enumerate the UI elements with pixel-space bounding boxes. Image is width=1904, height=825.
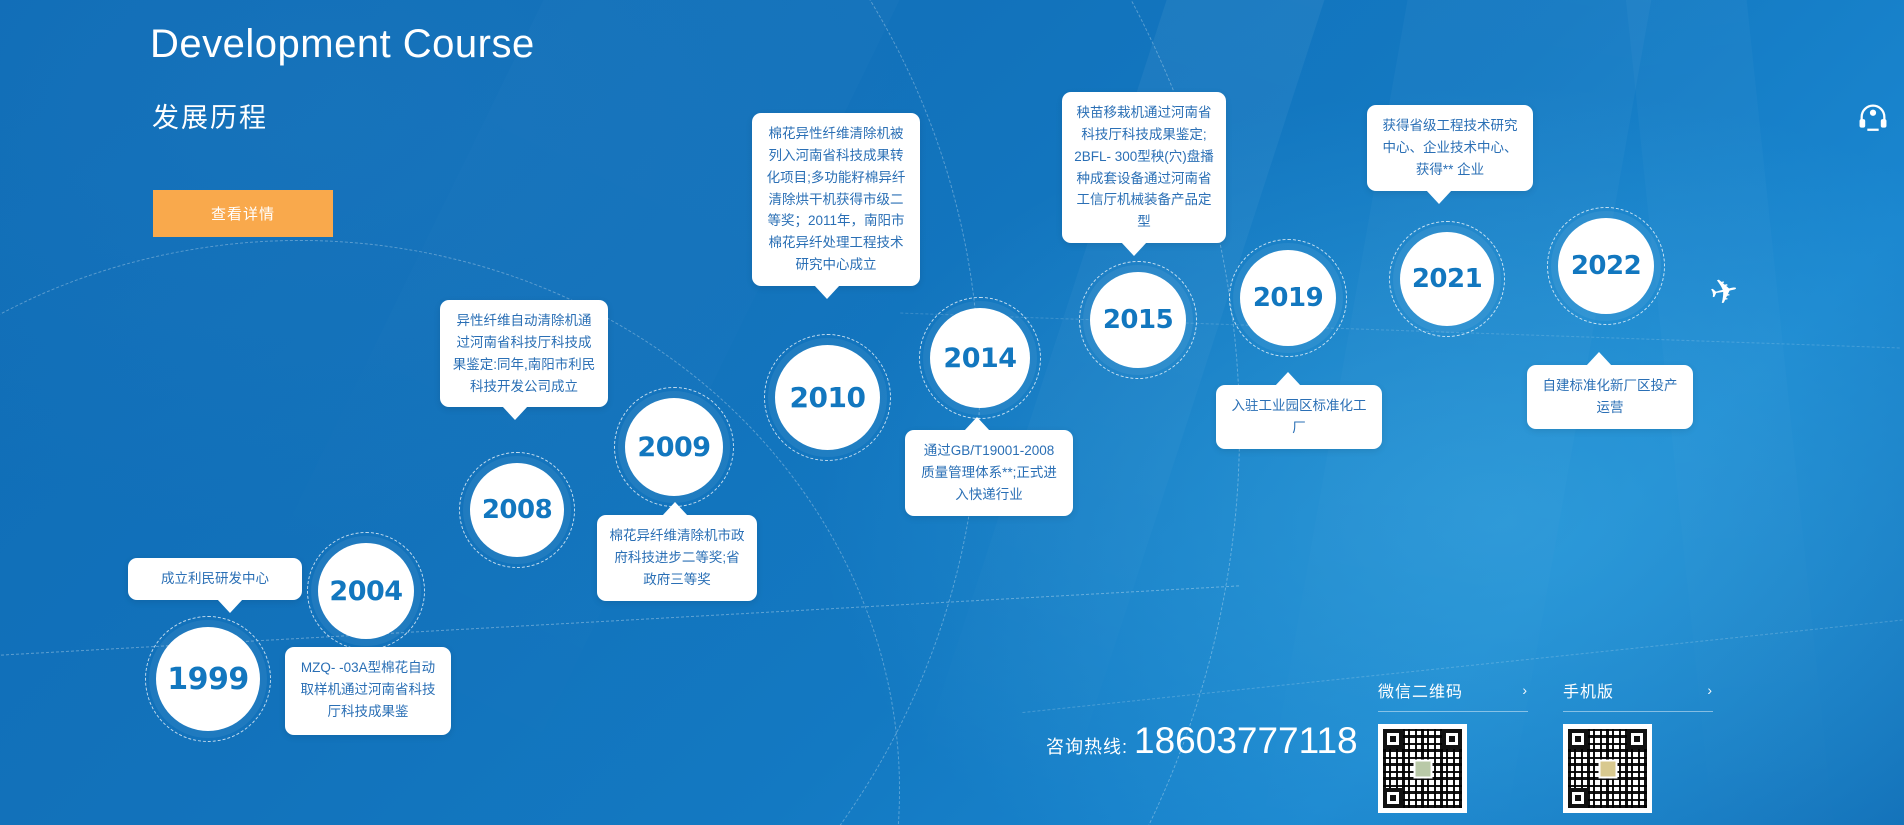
qr-header-mobile[interactable]: 手机版 › [1563, 678, 1713, 712]
qr-center-logo [1413, 759, 1432, 778]
timeline-node-2021[interactable]: 2021 [1400, 232, 1494, 326]
timeline-bubble-text: MZQ- -03A型棉花自动取样机通过河南省科技厅科技成果鉴 [301, 660, 436, 719]
timeline-node-2008[interactable]: 2008 [470, 463, 564, 557]
timeline-bubble-text: 获得省级工程技术研究中心、企业技术中心、获得** 企业 [1383, 118, 1518, 177]
qr-eye [1568, 788, 1588, 808]
timeline-node-2019[interactable]: 2019 [1240, 250, 1336, 346]
qr-eye [1383, 788, 1403, 808]
development-course-page: Development Course 发展历程 查看详情 ✈ 成立利民研发中心 … [0, 0, 1904, 825]
timeline-node-2015[interactable]: 2015 [1090, 272, 1186, 368]
qr-eye [1383, 729, 1403, 749]
hotline-label: 咨询热线: [1046, 733, 1128, 759]
qr-label: 手机版 [1563, 678, 1614, 702]
background-line [900, 313, 1899, 349]
timeline-bubble-text: 通过GB/T19001-2008质量管理体系**;正式进入快递行业 [921, 443, 1057, 502]
bubble-tail [1586, 352, 1612, 366]
timeline-node-2009[interactable]: 2009 [625, 398, 723, 496]
qr-code-wechat [1378, 724, 1467, 813]
bubble-tail [1275, 372, 1301, 386]
timeline-year: 2004 [329, 576, 402, 607]
bubble-tail [1121, 242, 1147, 256]
timeline-bubble-text: 异性纤维自动清除机通过河南省科技厅科技成果鉴定:同年,南阳市利民科技开发公司成立 [453, 313, 596, 394]
qr-eye [1568, 729, 1588, 749]
timeline-node-2022[interactable]: 2022 [1558, 218, 1654, 314]
timeline-node-2004[interactable]: 2004 [318, 543, 414, 639]
headset-support-icon[interactable] [1850, 92, 1896, 142]
timeline-year: 2019 [1253, 283, 1323, 313]
timeline-year: 1999 [167, 662, 249, 697]
qr-column-wechat: 微信二维码 › [1378, 678, 1528, 813]
bubble-tail [814, 285, 840, 299]
timeline-year: 2014 [943, 343, 1016, 374]
timeline-bubble-text: 棉花异纤维清除机市政府科技进步二等奖;省政府三等奖 [610, 528, 745, 587]
timeline-bubble-2004[interactable]: MZQ- -03A型棉花自动取样机通过河南省科技厅科技成果鉴 [285, 647, 451, 735]
timeline-year: 2015 [1103, 305, 1173, 335]
timeline-year: 2022 [1571, 251, 1641, 281]
bubble-tail [217, 599, 243, 613]
bubble-tail [502, 406, 528, 420]
timeline-year: 2008 [482, 495, 552, 525]
qr-eye [1442, 729, 1462, 749]
timeline-year: 2009 [637, 432, 710, 463]
chevron-right-icon: › [1707, 682, 1713, 698]
timeline-bubble-2014[interactable]: 通过GB/T19001-2008质量管理体系**;正式进入快递行业 [905, 430, 1073, 516]
timeline-bubble-text: 秧苗移栽机通过河南省科技厅科技成果鉴定; 2BFL- 300型秧(穴)盘播种成套… [1074, 105, 1214, 229]
timeline-bubble-text: 自建标准化新厂区投产运营 [1543, 378, 1678, 415]
timeline-bubble-2019[interactable]: 入驻工业园区标准化工厂 [1216, 385, 1382, 449]
timeline-bubble-2015[interactable]: 秧苗移栽机通过河南省科技厅科技成果鉴定; 2BFL- 300型秧(穴)盘播种成套… [1062, 92, 1226, 243]
bubble-tail [1426, 190, 1452, 204]
bubble-tail [964, 417, 990, 431]
timeline-bubble-2009[interactable]: 棉花异纤维清除机市政府科技进步二等奖;省政府三等奖 [597, 515, 757, 601]
qr-pattern [1383, 729, 1462, 808]
page-title-en: Development Course [150, 22, 535, 67]
timeline-year: 2021 [1412, 264, 1482, 294]
view-details-button[interactable]: 查看详情 [153, 190, 333, 237]
qr-column-mobile: 手机版 › [1563, 678, 1713, 813]
timeline-node-2014[interactable]: 2014 [930, 308, 1030, 408]
timeline-node-1999[interactable]: 1999 [156, 627, 260, 731]
bubble-tail [662, 502, 688, 516]
timeline-bubble-2008[interactable]: 异性纤维自动清除机通过河南省科技厅科技成果鉴定:同年,南阳市利民科技开发公司成立 [440, 300, 608, 407]
timeline-bubble-1999[interactable]: 成立利民研发中心 [128, 558, 302, 600]
qr-header-wechat[interactable]: 微信二维码 › [1378, 678, 1528, 712]
qr-label: 微信二维码 [1378, 678, 1463, 702]
timeline-bubble-text: 入驻工业园区标准化工厂 [1232, 398, 1367, 435]
hotline: 咨询热线: 18603777118 [1046, 720, 1358, 762]
timeline-bubble-2022[interactable]: 自建标准化新厂区投产运营 [1527, 365, 1693, 429]
qr-eye [1627, 729, 1647, 749]
qr-pattern [1568, 729, 1647, 808]
qr-center-logo [1598, 759, 1617, 778]
chevron-right-icon: › [1522, 682, 1528, 698]
page-title-cn: 发展历程 [152, 96, 268, 135]
timeline-bubble-2021[interactable]: 获得省级工程技术研究中心、企业技术中心、获得** 企业 [1367, 105, 1533, 191]
timeline-node-2010[interactable]: 2010 [775, 345, 880, 450]
bubble-tail [350, 647, 376, 648]
timeline-bubble-2010[interactable]: 棉花异性纤维清除机被列入河南省科技成果转化项目;多功能籽棉异纤清除烘干机获得市级… [752, 113, 920, 286]
timeline-year: 2010 [790, 381, 866, 414]
timeline-bubble-text: 成立利民研发中心 [161, 571, 269, 586]
hotline-number[interactable]: 18603777118 [1134, 720, 1358, 762]
timeline-bubble-text: 棉花异性纤维清除机被列入河南省科技成果转化项目;多功能籽棉异纤清除烘干机获得市级… [767, 126, 906, 272]
airplane-icon: ✈ [1707, 272, 1742, 311]
qr-code-mobile [1563, 724, 1652, 813]
